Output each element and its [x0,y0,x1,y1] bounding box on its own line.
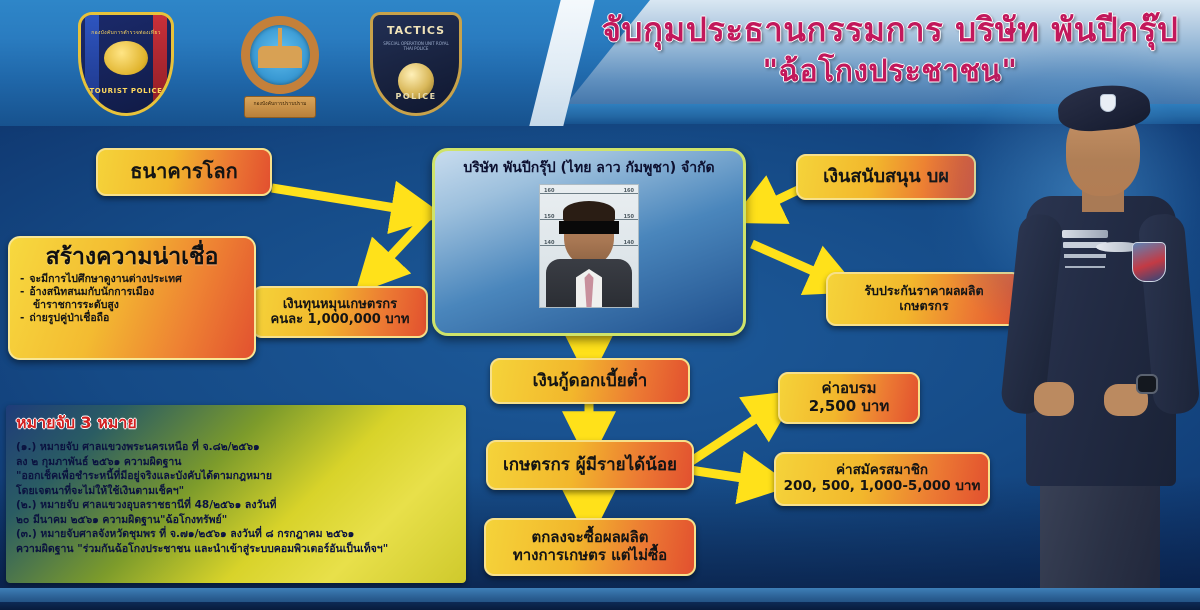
warrant-line: ลง ๒ กุมภาพันธ์ ๒๕๖๑ ความผิดฐาน [16,455,456,470]
suspect-hair [563,201,615,223]
scale-140-left: 140 [544,240,554,246]
credibility-bullet-list: - จะมีการไปศึกษาดูงานต่างประเทศ - อ้างสน… [20,273,244,325]
node-revolving-fund[interactable]: เงินทุนหมุนเกษตรกร คนละ 1,000,000 บาท [252,286,428,338]
bullet-text: อ้างสนิทสนมกับนักการเมือง [29,286,154,299]
node-no-purchase[interactable]: ตกลงจะซื้อผลผลิต ทางการเกษตร แต่ไม่ซื้อ [484,518,696,576]
credibility-panel: สร้างความน่าเชื่อ - จะมีการไปศึกษาดูงานต… [8,236,256,360]
wreath-badge-plate-text: กองบังคับการปราบปราม [244,96,316,118]
tactics-badge-top-text: TACTICS [373,24,459,37]
node-world-bank-label: ธนาคารโลก [130,160,238,184]
warrant-line: (๒.) หมายจับ ศาลแขวงอุบลราชธานีที่ 48/๒๕… [16,498,456,513]
warrant-title: หมายจับ 3 หมาย [16,411,137,436]
list-item: - ถ่ายรูปคู่ป่าเชื่อถือ [20,312,244,325]
warrant-line: โดยเจตนาที่จะไม่ให้ใช้เงินตามเช็คฯ" [16,484,456,499]
node-low-interest-loan-label: เงินกู้ดอกเบี้ยต่ำ [533,371,648,391]
tourist-police-badge-top-text: กองบังคับการตำรวจท่องเที่ยว [81,29,171,37]
node-training-fee-line2: 2,500 บาท [809,398,890,416]
node-membership-fee[interactable]: ค่าสมัครสมาชิก 200, 500, 1,000-5,000 บาท [774,452,990,506]
node-no-purchase-line2: ทางการเกษตร แต่ไม่ซื้อ [513,547,667,565]
footer-bar-shadow [0,602,1200,610]
rank-insignia-icon [1062,230,1108,238]
list-item: ข้าราชการระดับสูง [20,299,244,312]
scale-140-right: 140 [624,240,634,246]
bullet-text: ถ่ายรูปคู่ป่าเชื่อถือ [29,312,109,325]
node-low-interest-loan[interactable]: เงินกู้ดอกเบี้ยต่ำ [490,358,690,404]
police-officer-photo [1004,64,1200,610]
police-wreath-badge-icon: กองบังคับการปราบปราม [230,12,330,120]
bullet-dash: - [20,273,24,286]
tactics-police-badge-icon: TACTICS SPECIAL OPERATION UNIT ROYAL THA… [370,12,462,116]
tactics-badge-bottom-text: POLICE [373,92,459,101]
warrant-line: ๒๐ มีนาคม ๒๕๖๑ ความผิดฐาน"ฉ้อโกงทรัพย์" [16,513,456,528]
scale-160-right: 160 [624,188,634,194]
eye-censor-bar [559,221,619,234]
infographic-canvas: จับกุมประธานกรรมการ บริษัท พันปีกรุ๊ป "ฉ… [0,0,1200,610]
list-item: - จะมีการไปศึกษาดูงานต่างประเทศ [20,273,244,286]
suspect-mugshot: 160 160 150 150 140 140 [539,184,639,308]
node-world-bank[interactable]: ธนาคารโลก [96,148,272,196]
tourist-police-badge-bottom-text: TOURIST POLICE [81,87,171,95]
bullet-dash: - [20,286,24,299]
agency-badges: กองบังคับการตำรวจท่องเที่ยว TOURIST POLI… [70,8,490,116]
node-revolving-fund-line2: คนละ 1,000,000 บาท [271,312,410,327]
scale-150-right: 150 [624,214,634,220]
suspect-suit [546,259,632,307]
node-membership-fee-line2: 200, 500, 1,000-5,000 บาท [784,479,981,495]
warrant-line: (๑.) หมายจับ ศาลแขวงพระนครเหนือ ที่ จ.๘๒… [16,440,456,455]
node-low-income-farmers-label: เกษตรกร ผู้มีรายได้น้อย [503,455,677,475]
bullet-text: จะมีการไปศึกษาดูงานต่างประเทศ [29,273,181,286]
bullet-text: ข้าราชการระดับสูง [33,299,119,312]
wristwatch-icon [1136,374,1158,394]
node-no-purchase-line1: ตกลงจะซื้อผลผลิต [531,529,648,547]
scale-160-left: 160 [544,188,554,194]
node-training-fee[interactable]: ค่าอบรม 2,500 บาท [778,372,920,424]
node-company-title: บริษัท พันปีกรุ๊ป (ไทย ลาว กัมพูชา) จำกั… [435,157,743,179]
node-membership-fee-line1: ค่าสมัครสมาชิก [836,463,928,479]
tactics-badge-sub-text: SPECIAL OPERATION UNIT ROYAL THAI POLICE [379,41,453,51]
warrant-line: ความผิดฐาน "ร่วมกันฉ้อโกงประชาชน และนำเข… [16,542,456,557]
warrant-line: (๓.) หมายจับศาลจังหวัดชุมพร ที่ จ.๗๑/๒๕๖… [16,527,456,542]
shoulder-patch-icon [1132,242,1166,282]
node-revolving-fund-line1: เงินทุนหมุนเกษตรกร [283,297,397,312]
list-item: - อ้างสนิทสนมกับนักการเมือง [20,286,244,299]
bullet-dash: - [20,312,24,325]
warrant-line: "ออกเช็คเพื่อชำระหนี้ที่มีอยู่จริงและบัง… [16,469,456,484]
node-company[interactable]: บริษัท พันปีกรุ๊ป (ไทย ลาว กัมพูชา) จำกั… [432,148,746,336]
credibility-heading: สร้างความน่าเชื่อ [20,244,244,270]
tourist-police-badge-icon: กองบังคับการตำรวจท่องเที่ยว TOURIST POLI… [78,12,174,116]
node-training-fee-line1: ค่าอบรม [822,380,877,398]
arrest-warrant-panel: หมายจับ 3 หมาย (๑.) หมายจับ ศาลแขวงพระนค… [6,405,466,583]
beret-badge-icon [1100,94,1116,112]
node-low-income-farmers[interactable]: เกษตรกร ผู้มีรายได้น้อย [486,440,694,490]
scale-150-left: 150 [544,214,554,220]
